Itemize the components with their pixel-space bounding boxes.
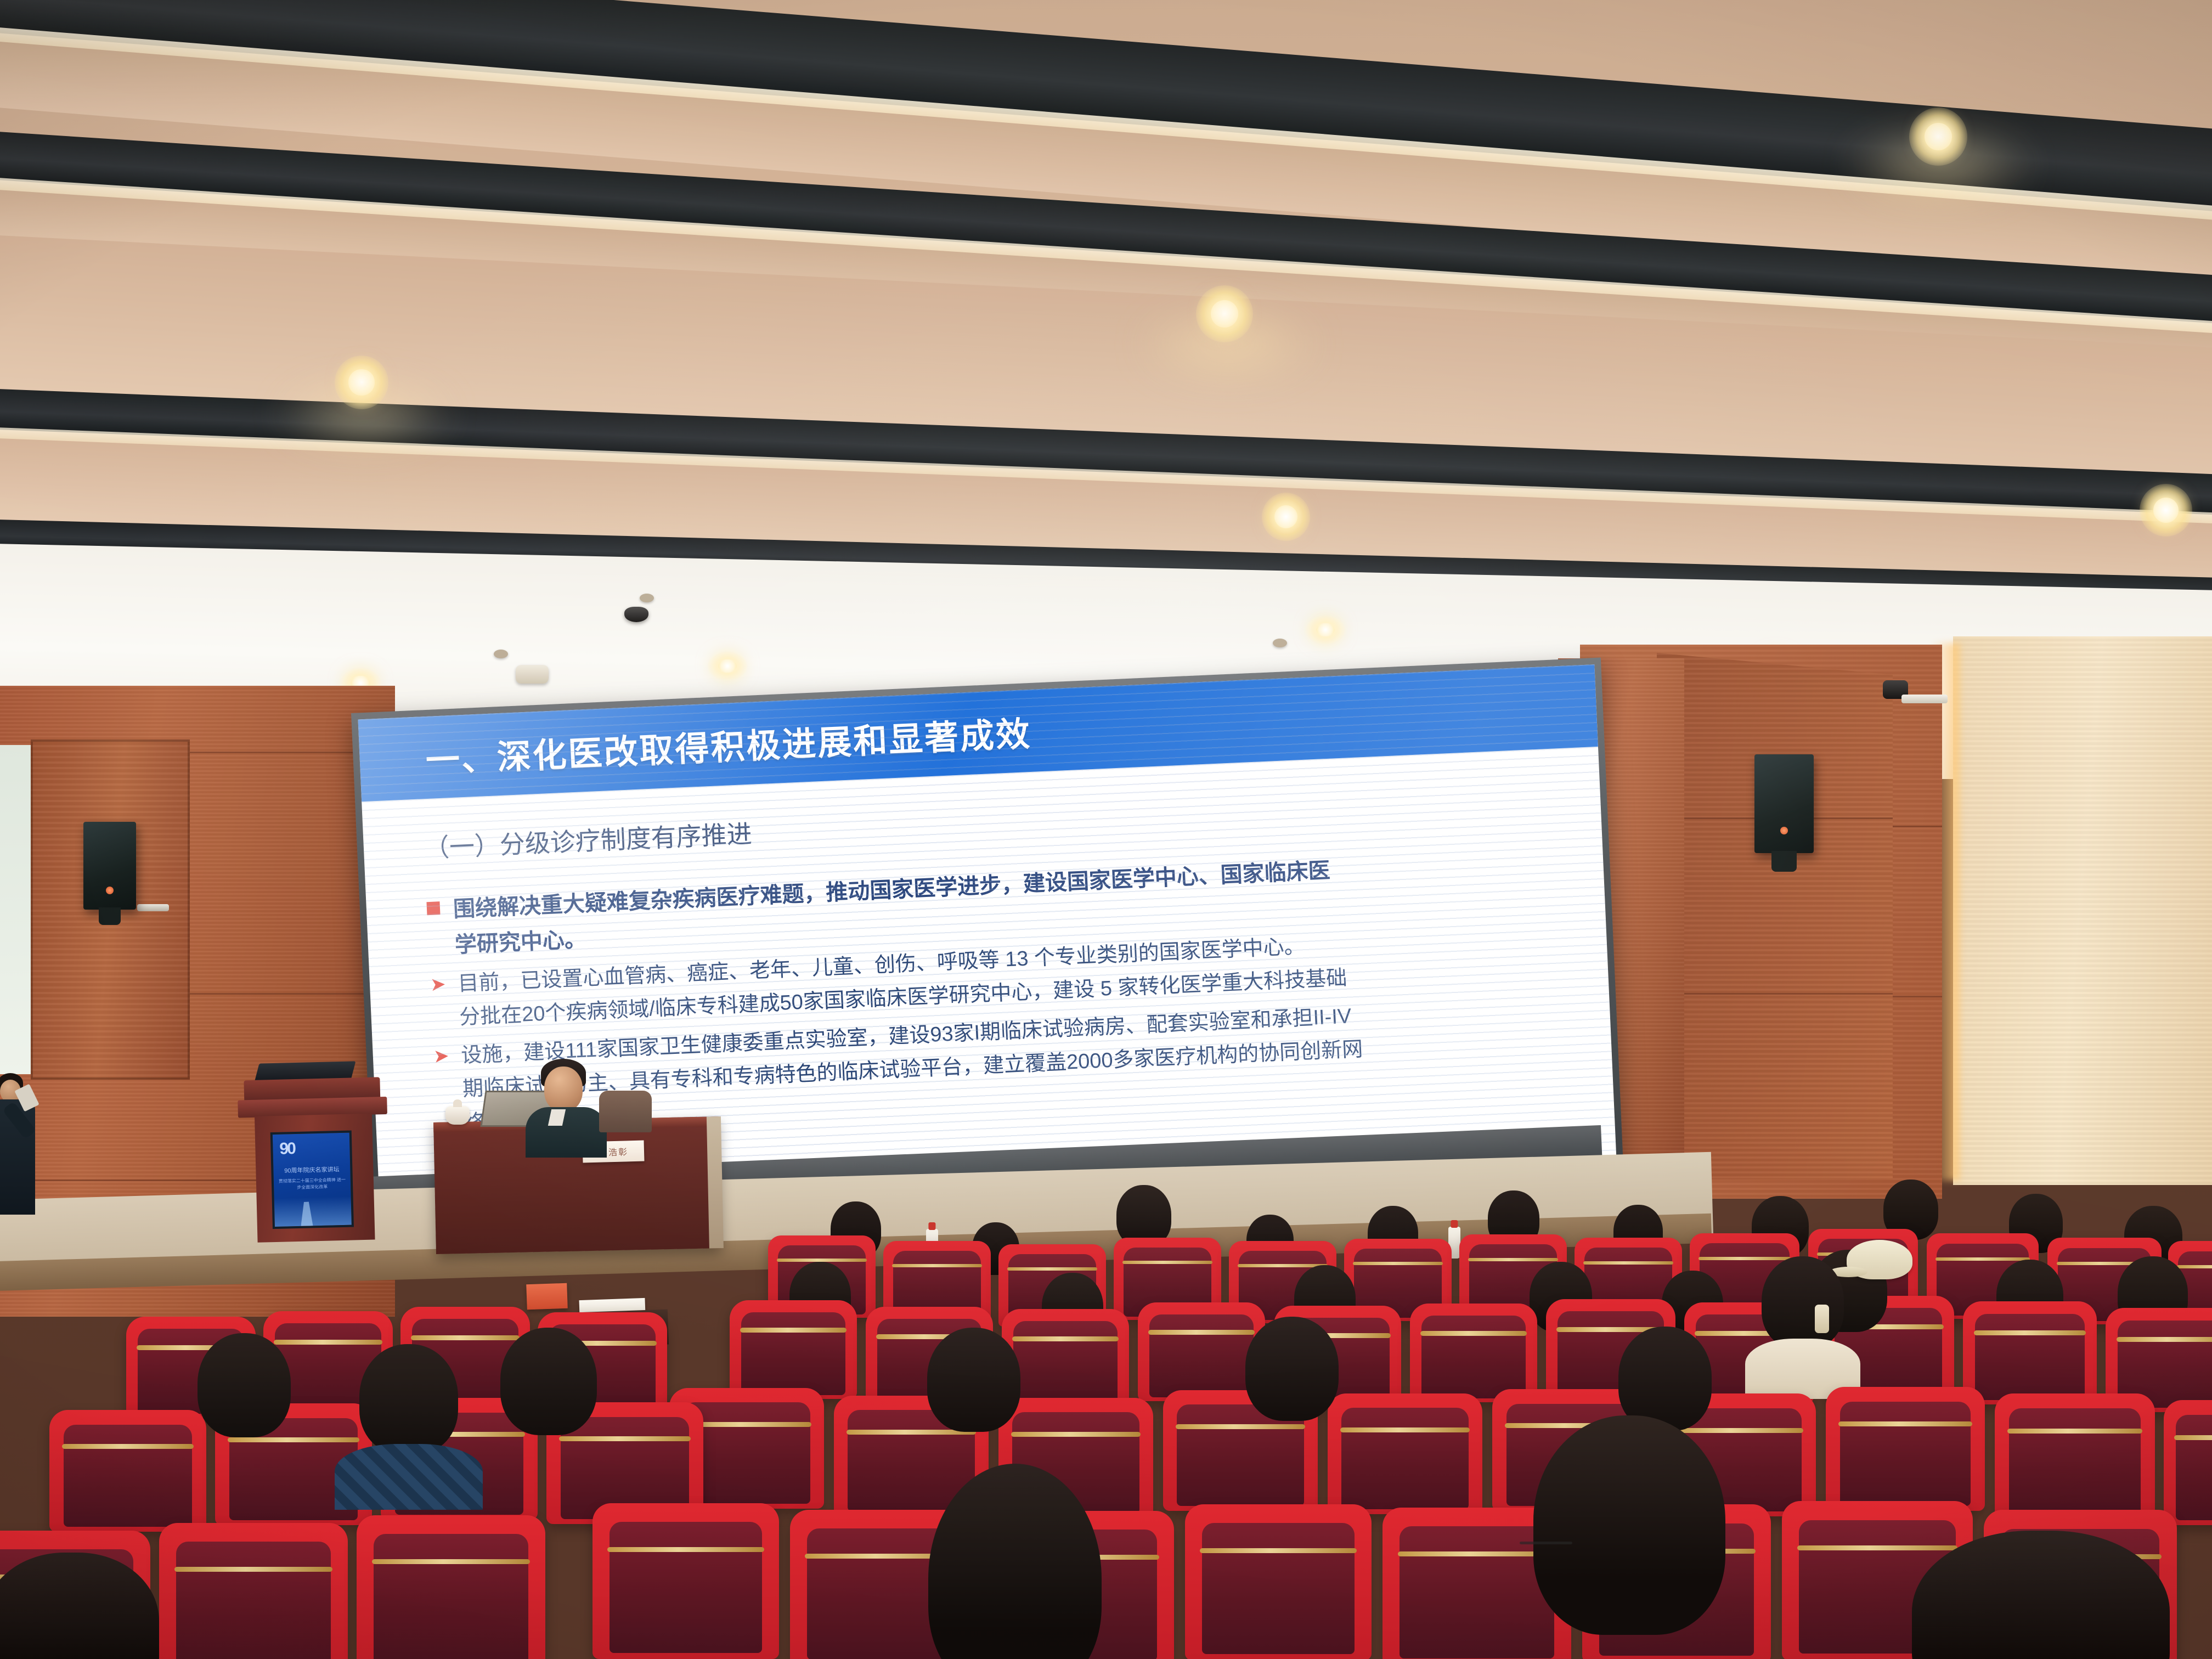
audience-head [1533, 1415, 1725, 1635]
desk-side-edge [707, 1116, 724, 1248]
seat[interactable] [1185, 1504, 1372, 1659]
seat[interactable] [1410, 1304, 1537, 1402]
speaker-chair-back [599, 1091, 652, 1132]
person-standing-doorway [0, 1073, 46, 1238]
podium-led-line1: 90周年院庆名家讲坛 [278, 1165, 346, 1175]
audience-head [927, 1328, 1020, 1432]
lectern-podium: 90 90周年院庆名家讲坛 贯彻落实二十届三中全会精神 进一步全面深化改革 [251, 1077, 387, 1245]
ceiling-downlight [1262, 493, 1310, 541]
seat[interactable] [2164, 1400, 2212, 1525]
speaker-head [544, 1066, 583, 1111]
seat[interactable] [1826, 1387, 1985, 1511]
red-box-on-stage [526, 1283, 568, 1310]
podium-led-panel: 90 90周年院庆名家讲坛 贯彻落实二十届三中全会精神 进一步全面深化改革 [270, 1131, 354, 1229]
wall-right-return [1657, 653, 1893, 1180]
podium-led-skyline-graphic [274, 1197, 352, 1227]
square-bullet-icon [426, 901, 440, 915]
audience-person-foreground-right [1503, 1415, 1756, 1659]
arrow-bullet-icon: ➤ [430, 974, 446, 994]
hair-clip [1815, 1305, 1829, 1333]
audience-head [1245, 1317, 1339, 1421]
ceiling-downlight [2140, 484, 2192, 537]
seat[interactable] [592, 1503, 779, 1659]
audience-head [928, 1464, 1102, 1659]
podium-led-line2: 贯彻落实二十届三中全会精神 进一步全面深化改革 [277, 1177, 348, 1192]
doorway-opening [0, 745, 31, 1074]
audience-person-foreground-far-right [1887, 1531, 2194, 1659]
door-handle[interactable] [137, 904, 169, 911]
audience-person [1229, 1317, 1355, 1448]
audience-person-foreground-left [0, 1553, 176, 1659]
seat[interactable] [1995, 1393, 2155, 1519]
audience-head [500, 1328, 597, 1435]
podium-logo: 90 [279, 1139, 295, 1159]
sprinkler-head [1273, 639, 1287, 647]
ceiling-downlight [708, 652, 747, 680]
wall-speaker-right [1754, 754, 1814, 853]
downlight-wash [1136, 307, 1322, 382]
audience-head [1912, 1531, 2170, 1659]
teapot [445, 1106, 470, 1125]
downlight-wash [1843, 127, 2035, 204]
audience-person-checkered-shirt [340, 1344, 477, 1498]
photo-scene: 一、深化医改取得积极进展和显著成效 （一）分级诊疗制度有序推进 围绕解决重大疑难… [0, 0, 2212, 1659]
audience-head [0, 1553, 159, 1659]
audience-person [483, 1328, 614, 1465]
audience-head [1762, 1256, 1844, 1348]
smoke-detector [516, 665, 549, 684]
arrow-bullet-icon: ➤ [433, 1046, 449, 1065]
sprinkler-head [494, 650, 508, 658]
eyeglasses [1520, 1542, 1572, 1544]
audience-person-foreground-center [900, 1464, 1130, 1659]
audience-person [181, 1333, 307, 1459]
audience-shoulders [335, 1444, 483, 1510]
sprinkler-head [640, 594, 654, 602]
camera-mount-bracket [1901, 695, 1948, 703]
wall-right-light-panel [1953, 636, 2212, 1185]
speaker-torso [526, 1107, 607, 1158]
ceiling-downlight [1306, 616, 1345, 644]
seat[interactable] [159, 1523, 348, 1659]
dome-camera-ceiling [624, 607, 648, 622]
seat[interactable] [357, 1515, 545, 1659]
audience-person [911, 1328, 1037, 1459]
slide-title: 一、深化医改取得积极进展和显著成效 [425, 706, 1032, 782]
seat[interactable] [730, 1300, 857, 1399]
audience-head [359, 1344, 458, 1454]
wall-speaker-left [83, 822, 136, 910]
audience-person-with-hair-clip [1748, 1256, 1858, 1388]
audience-head [198, 1333, 291, 1437]
downlight-wash [274, 379, 455, 450]
